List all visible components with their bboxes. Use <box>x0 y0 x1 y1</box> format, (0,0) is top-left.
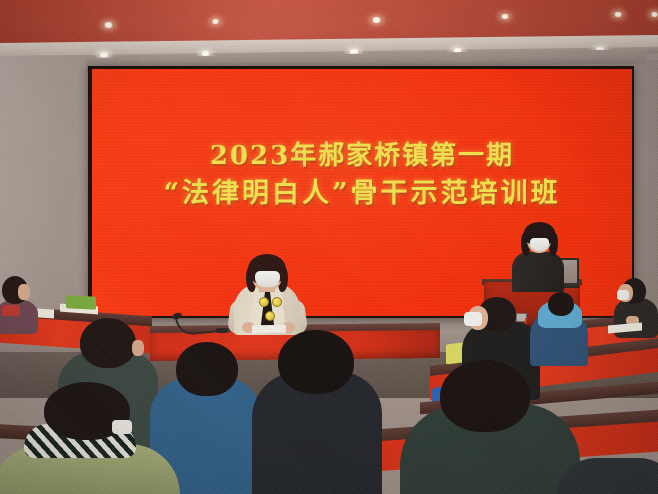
attendee-head <box>548 292 574 316</box>
attendee-face-mask-icon <box>617 290 629 300</box>
ceiling-light-icon <box>650 12 658 17</box>
microphone-base <box>216 328 228 333</box>
ceiling-light-icon <box>500 14 510 19</box>
presenter-face-mask-icon <box>530 238 549 251</box>
attendee-red-item <box>2 305 20 316</box>
ceiling-light-icon <box>211 19 220 24</box>
speaker-badge-icon <box>259 297 269 307</box>
attendee-head <box>278 330 354 394</box>
ceiling-light-icon <box>103 22 114 28</box>
speaker-paper-sheet <box>252 325 286 334</box>
speaker-badge-icon <box>265 311 275 321</box>
attendee-head <box>80 318 136 368</box>
conference-room-photo: 2023年郝家桥镇第一期 “法律明白人”骨干示范培训班 <box>0 0 658 494</box>
attendee-face-mask-icon <box>464 312 482 326</box>
ceiling-light-icon <box>613 12 623 17</box>
green-desk-item <box>66 295 96 310</box>
attendee-face-mask-icon <box>112 420 132 434</box>
attendee-head <box>176 342 238 396</box>
attendee-head <box>440 360 530 432</box>
presenter-coat <box>512 252 564 292</box>
ceiling-light-icon <box>371 17 382 23</box>
attendee-face <box>18 284 30 300</box>
attendee-ear <box>132 340 144 356</box>
speaker-face-mask-icon <box>255 271 280 287</box>
speaker-badge-icon <box>272 297 282 307</box>
